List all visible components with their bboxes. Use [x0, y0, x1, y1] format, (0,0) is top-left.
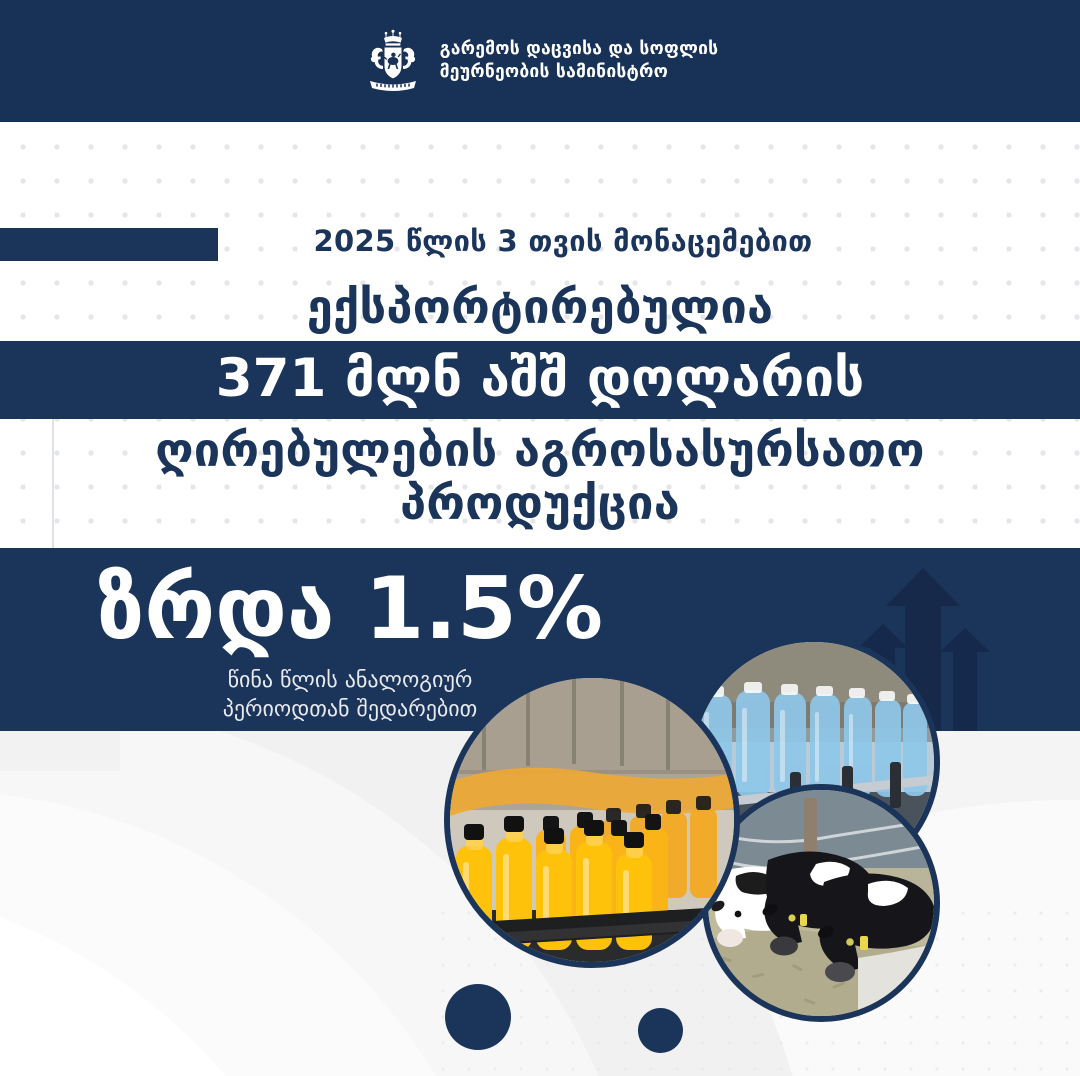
background-sheet-left: [0, 731, 120, 771]
header-inner: გარემოს დაცვისა და სოფლის მეურნეობის სამ…: [362, 25, 719, 97]
juice-bottling-line-photo: [444, 672, 740, 968]
growth-value-label: ზრდა 1.5%: [50, 566, 650, 652]
headline-line-4: პროდუქცია: [0, 478, 1080, 531]
headline-block: ექსპორტირებულია 371 მლნ აშშ დოლარის ღირე…: [0, 282, 1080, 531]
decorative-circle-large: [445, 984, 511, 1050]
headline-highlight: 371 მლნ აშშ დოლარის: [0, 341, 1080, 420]
headline-line-1: ექსპორტირებულია: [0, 282, 1080, 335]
georgia-coat-of-arms-icon: [362, 25, 424, 97]
infographic-poster: გარემოს დაცვისა და სოფლის მეურნეობის სამ…: [0, 0, 1080, 1076]
headline-line-3: ღირებულების აგროსასურსათო: [0, 425, 1080, 478]
header-band: გარემოს დაცვისა და სოფლის მეურნეობის სამ…: [0, 0, 1080, 122]
ministry-name: გარემოს დაცვისა და სოფლის მეურნეობის სამ…: [440, 38, 719, 85]
eyebrow-text: 2025 წლის 3 თვის მონაცემებით: [0, 224, 1080, 258]
decorative-circle-small: [638, 1008, 683, 1053]
